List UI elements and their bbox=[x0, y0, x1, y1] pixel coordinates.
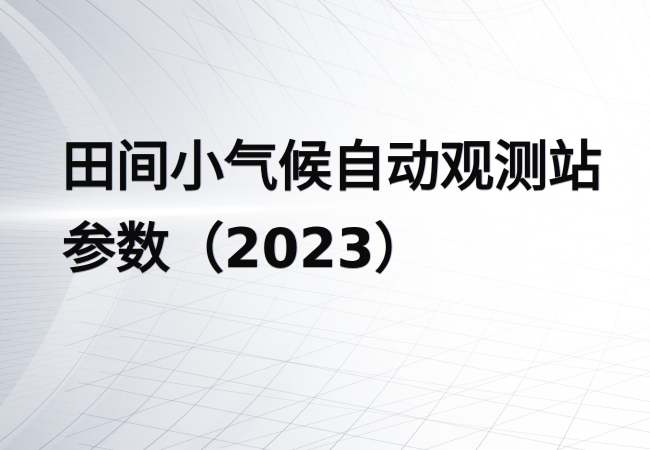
title-line-1: 田间小气候自动观测站 bbox=[62, 126, 602, 208]
title-slide: 田间小气候自动观测站 参数（2023） bbox=[0, 0, 650, 450]
page-title: 田间小气候自动观测站 参数（2023） bbox=[62, 126, 602, 290]
title-line-2: 参数（2023） bbox=[62, 208, 602, 290]
